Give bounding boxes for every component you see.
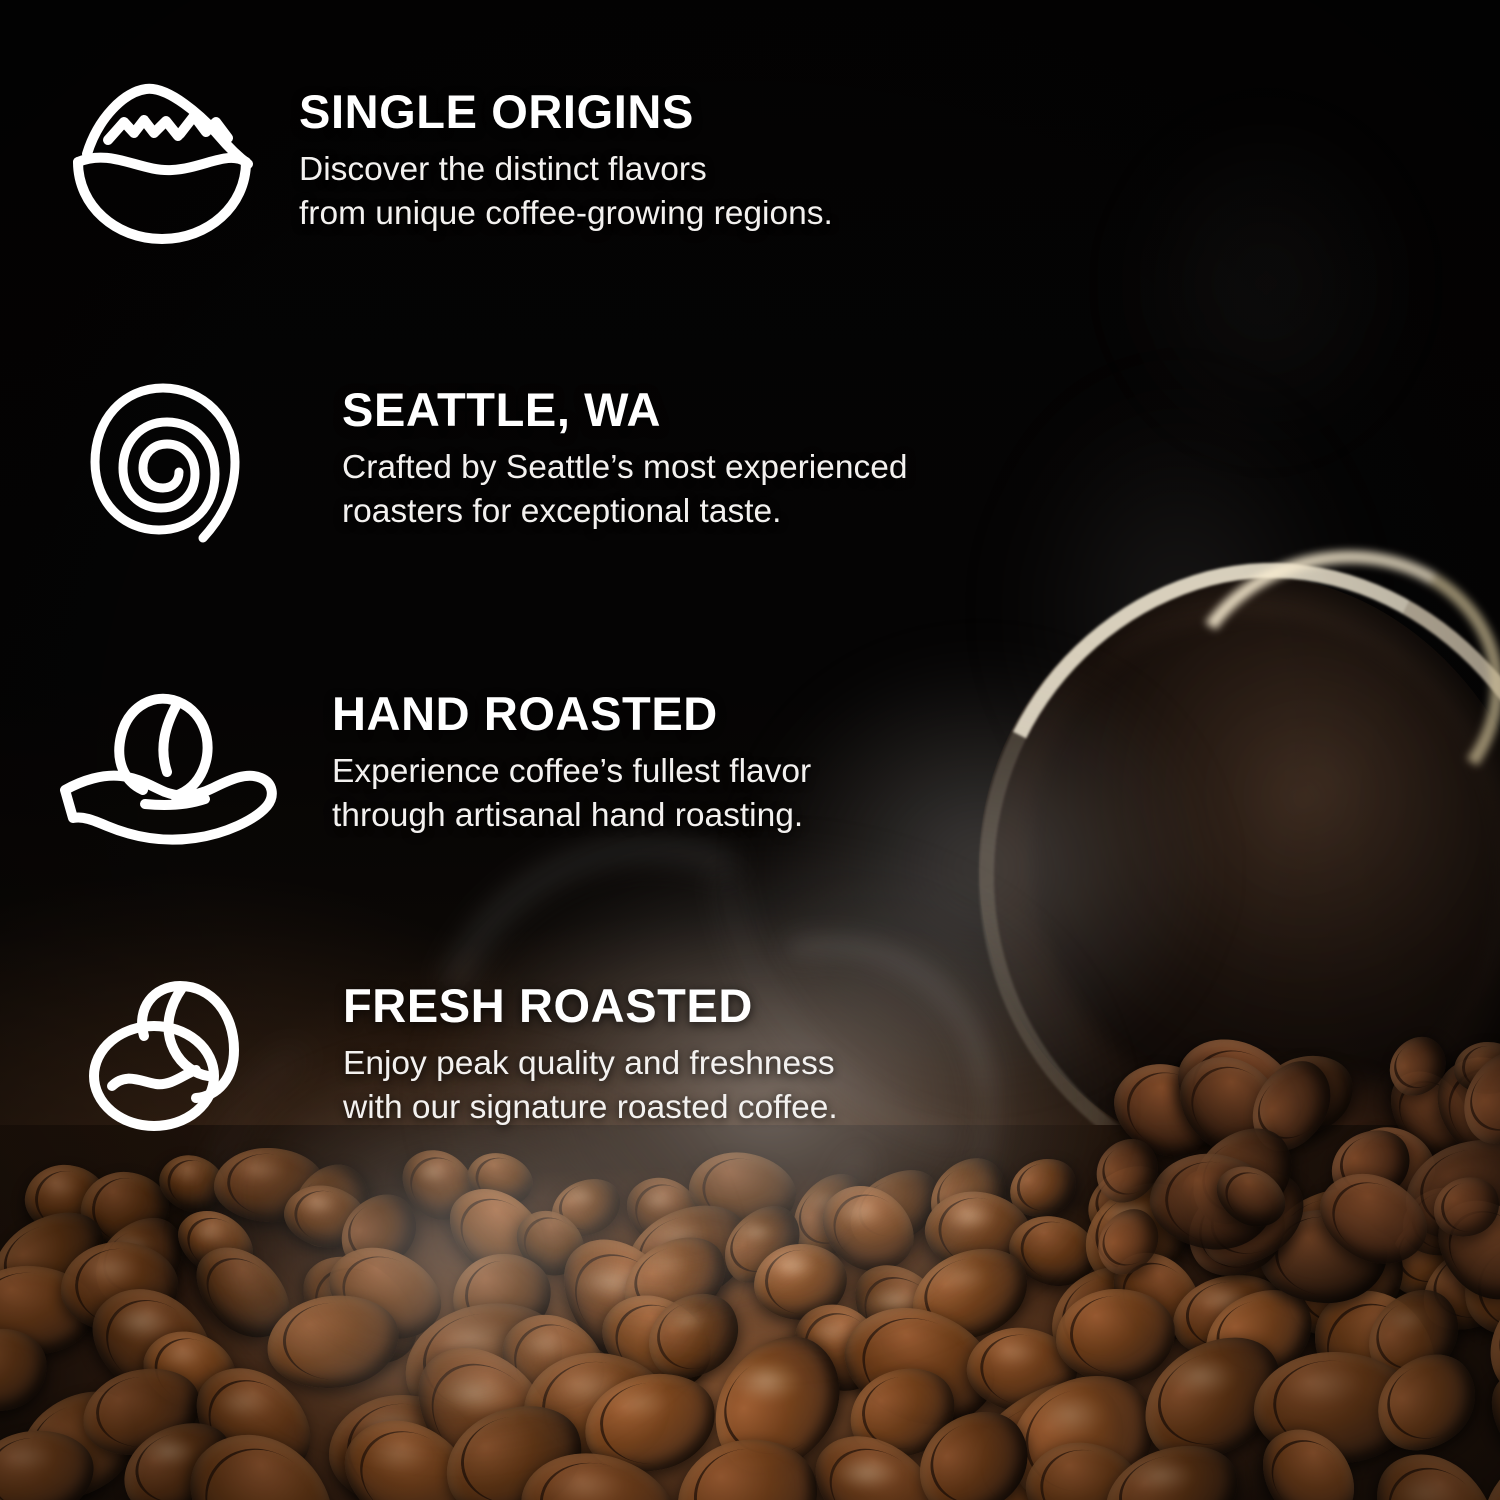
feature-description-line: Enjoy peak quality and freshness: [343, 1042, 838, 1086]
feature-description-line: from unique coffee-growing regions.: [299, 192, 833, 236]
feature-description: Experience coffee’s fullest flavor throu…: [332, 750, 811, 837]
feature-title: SINGLE ORIGINS: [299, 88, 833, 135]
feature-title: HAND ROASTED: [332, 690, 811, 737]
feature-description: Crafted by Seattle’s most experienced ro…: [342, 446, 907, 533]
two-beans-icon: [86, 978, 251, 1143]
feature-title: FRESH ROASTED: [343, 982, 838, 1029]
feature-description: Discover the distinct flavors from uniqu…: [299, 148, 833, 235]
hand-holding-bean-icon: [55, 686, 280, 851]
feature-text-block: SINGLE ORIGINS Discover the distinct fla…: [299, 88, 833, 235]
feature-title: SEATTLE, WA: [342, 386, 907, 433]
feature-description-line: roasters for exceptional taste.: [342, 490, 907, 534]
feature-description-line: Crafted by Seattle’s most experienced: [342, 446, 907, 490]
product-feature-banner: SINGLE ORIGINS Discover the distinct fla…: [0, 0, 1500, 1500]
feature-description-line: Experience coffee’s fullest flavor: [332, 750, 811, 794]
feature-item-hand-roasted: HAND ROASTED Experience coffee’s fullest…: [55, 686, 811, 851]
feature-text-block: HAND ROASTED Experience coffee’s fullest…: [332, 690, 811, 837]
feature-description-line: with our signature roasted coffee.: [343, 1086, 838, 1130]
fingerprint-icon: [85, 378, 245, 568]
feature-list: SINGLE ORIGINS Discover the distinct fla…: [0, 0, 1500, 1500]
feature-description-line: Discover the distinct flavors: [299, 148, 833, 192]
feature-text-block: FRESH ROASTED Enjoy peak quality and fre…: [343, 982, 838, 1129]
feature-description-line: through artisanal hand roasting.: [332, 794, 811, 838]
feature-item-fresh-roasted: FRESH ROASTED Enjoy peak quality and fre…: [86, 978, 838, 1143]
feature-item-single-origins: SINGLE ORIGINS Discover the distinct fla…: [62, 76, 833, 256]
feature-description: Enjoy peak quality and freshness with ou…: [343, 1042, 838, 1129]
feature-item-seattle-wa: SEATTLE, WA Crafted by Seattle’s most ex…: [85, 378, 907, 568]
feature-text-block: SEATTLE, WA Crafted by Seattle’s most ex…: [342, 386, 907, 533]
mountain-bean-icon: [62, 76, 262, 256]
